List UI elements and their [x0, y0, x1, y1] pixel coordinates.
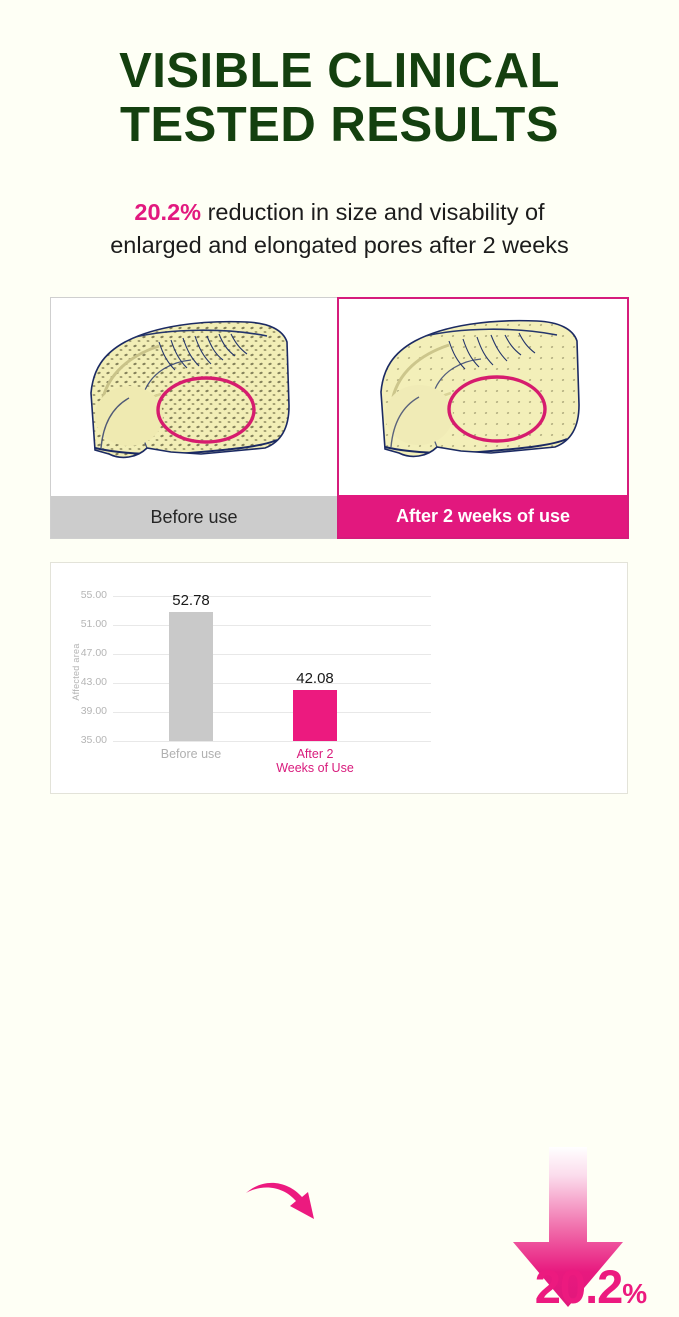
- chart-gridline: 43.00: [113, 683, 431, 684]
- chart-bar: 52.78Before use: [169, 612, 213, 741]
- reduction-percent-callout: 20.2%: [491, 1263, 679, 1317]
- bar-chart: Affected area 55.0051.0047.0043.0039.003…: [51, 563, 451, 795]
- chart-gridline: 55.00: [113, 596, 431, 597]
- reduction-percent-symbol: %: [622, 1278, 647, 1309]
- chart-gridlines: 55.0051.0047.0043.0039.0035.0052.78Befor…: [113, 596, 431, 741]
- nose-diagram-after: [339, 299, 627, 495]
- page-subtitle-line-2: enlarged and elongated pores after 2 wee…: [0, 229, 679, 262]
- results-chart-card: Affected area 55.0051.0047.0043.0039.003…: [50, 562, 628, 794]
- before-panel: Before use: [50, 297, 338, 539]
- chart-y-tick-label: 39.00: [81, 705, 107, 717]
- chart-gridline: 51.00: [113, 625, 431, 626]
- after-caption: After 2 weeks of use: [339, 495, 627, 537]
- nose-diagram-before: [51, 298, 337, 496]
- chart-y-tick-label: 47.00: [81, 647, 107, 659]
- chart-gridline: 35.00: [113, 741, 431, 742]
- page-title: VISIBLE CLINICAL TESTED RESULTS: [0, 44, 679, 152]
- curved-decrease-arrow-icon: [244, 1175, 324, 1237]
- page-title-line-1: VISIBLE CLINICAL: [0, 44, 679, 98]
- after-nose-image: [339, 299, 627, 495]
- page-subtitle: 20.2% reduction in size and visability o…: [0, 196, 679, 262]
- before-caption: Before use: [51, 496, 337, 538]
- chart-bar-value-label: 42.08: [296, 670, 334, 687]
- chart-y-tick-label: 55.00: [81, 589, 107, 601]
- chart-gridline: 47.00: [113, 654, 431, 655]
- after-panel: After 2 weeks of use: [337, 297, 629, 539]
- chart-bar: 42.08After 2Weeks of Use: [293, 690, 337, 741]
- chart-y-tick-label: 43.00: [81, 676, 107, 688]
- chart-x-tick-line: After 2: [297, 747, 334, 761]
- chart-y-tick-label: 35.00: [81, 734, 107, 746]
- chart-gridline: 39.00: [113, 712, 431, 713]
- chart-y-axis-label: Affected area: [71, 627, 81, 717]
- before-nose-image: [51, 298, 337, 496]
- chart-x-tick-label: After 2Weeks of Use: [276, 747, 354, 775]
- subtitle-rest: reduction in size and visability of: [201, 199, 545, 225]
- chart-x-tick-label: Before use: [161, 747, 221, 761]
- chart-x-tick-line: Before use: [161, 747, 221, 761]
- chart-bar-value-label: 52.78: [172, 592, 210, 609]
- subtitle-percent: 20.2%: [134, 199, 201, 225]
- chart-x-tick-line: Weeks of Use: [276, 761, 354, 775]
- reduction-percent-value: 20.2: [535, 1260, 622, 1313]
- before-after-comparison: Before use: [50, 297, 629, 539]
- page-subtitle-line-1: 20.2% reduction in size and visability o…: [0, 196, 679, 229]
- chart-y-tick-label: 51.00: [81, 618, 107, 630]
- page-title-line-2: TESTED RESULTS: [0, 98, 679, 152]
